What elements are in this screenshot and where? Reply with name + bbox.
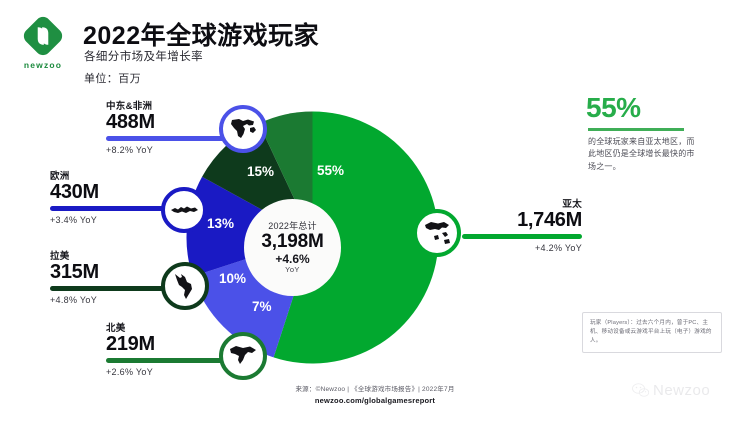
callout-europe: 欧洲 430M +3.4% YoY [50, 168, 170, 225]
total-value: 3,198M [261, 232, 323, 252]
callout-value: 1,746M [462, 210, 582, 231]
callout-value: 315M [50, 262, 170, 283]
total-label: 2022年总计 [268, 222, 316, 231]
callout-north-america: 北美 219M +2.6% YoY [106, 320, 230, 377]
callout-region-label: 欧洲 [50, 168, 170, 182]
callout-region-label: 中东&非洲 [106, 98, 230, 112]
callout-yoy: +8.2% YoY [106, 145, 230, 155]
wechat-watermark: Newzoo [632, 382, 710, 399]
callout-latin-america: 拉美 315M +4.8% YoY [50, 248, 170, 305]
callout-connector-line [50, 286, 170, 291]
callout-yoy: +3.4% YoY [50, 215, 170, 225]
callout-region-label: 拉美 [50, 248, 170, 262]
map-north-america-icon [219, 332, 267, 380]
map-asia-pacific-icon [413, 209, 461, 257]
callout-value: 219M [106, 334, 230, 355]
highlight-divider [588, 128, 684, 131]
map-europe-icon [161, 187, 207, 233]
source-line: 来源：©Newzoo | 《全球游戏市场报告》| 2022年7月 [295, 383, 454, 393]
callout-region-label: 北美 [106, 320, 230, 334]
definition-note: 玩家（Players）：过去六个月内，曾于PC、主机、移动设备或云游戏平台上玩（… [582, 312, 722, 353]
wechat-icon [632, 383, 649, 398]
callout-asia-pacific: 亚太 1,746M +4.2% YoY [462, 196, 582, 253]
total-yoy-label: YoY [285, 266, 300, 274]
callout-value: 430M [50, 182, 170, 203]
callout-connector-line [106, 136, 230, 141]
callout-value: 488M [106, 112, 230, 133]
units-label: 单位：百万 [84, 70, 141, 86]
callout-middle-east-africa: 中东&非洲 488M +8.2% YoY [106, 98, 230, 155]
infographic-canvas: newzoo 2022年全球游戏玩家 各细分市场及年增长率 单位：百万 55% … [0, 0, 750, 421]
callout-yoy: +2.6% YoY [106, 367, 230, 377]
highlight-percent: 55% [586, 92, 641, 124]
callout-region-label: 亚太 [462, 196, 582, 210]
total-yoy: +4.6% [275, 253, 309, 266]
callout-yoy: +4.8% YoY [50, 295, 170, 305]
callout-connector-line [50, 206, 170, 211]
watermark-text: Newzoo [653, 382, 710, 399]
callout-yoy: +4.2% YoY [462, 243, 582, 253]
page-subtitle: 各细分市场及年增长率 [84, 48, 203, 64]
newzoo-logo: newzoo [12, 14, 74, 76]
map-latin-america-icon [161, 262, 209, 310]
highlight-body-text: 的全球玩家来自亚太地区，而此地区仍是全球增长最快的市场之一。 [588, 136, 700, 173]
source-url[interactable]: newzoo.com/globalgamesreport [315, 396, 435, 405]
callout-connector-line [462, 234, 582, 239]
page-title: 2022年全球游戏玩家 [83, 16, 319, 52]
newzoo-wordmark: newzoo [12, 60, 74, 70]
callout-connector-line [106, 358, 230, 363]
newzoo-diamond-logo-icon [21, 14, 65, 58]
map-middle-east-africa-icon [219, 105, 267, 153]
donut-center-total: 2022年总计 3,198M +4.6% YoY [244, 199, 341, 296]
